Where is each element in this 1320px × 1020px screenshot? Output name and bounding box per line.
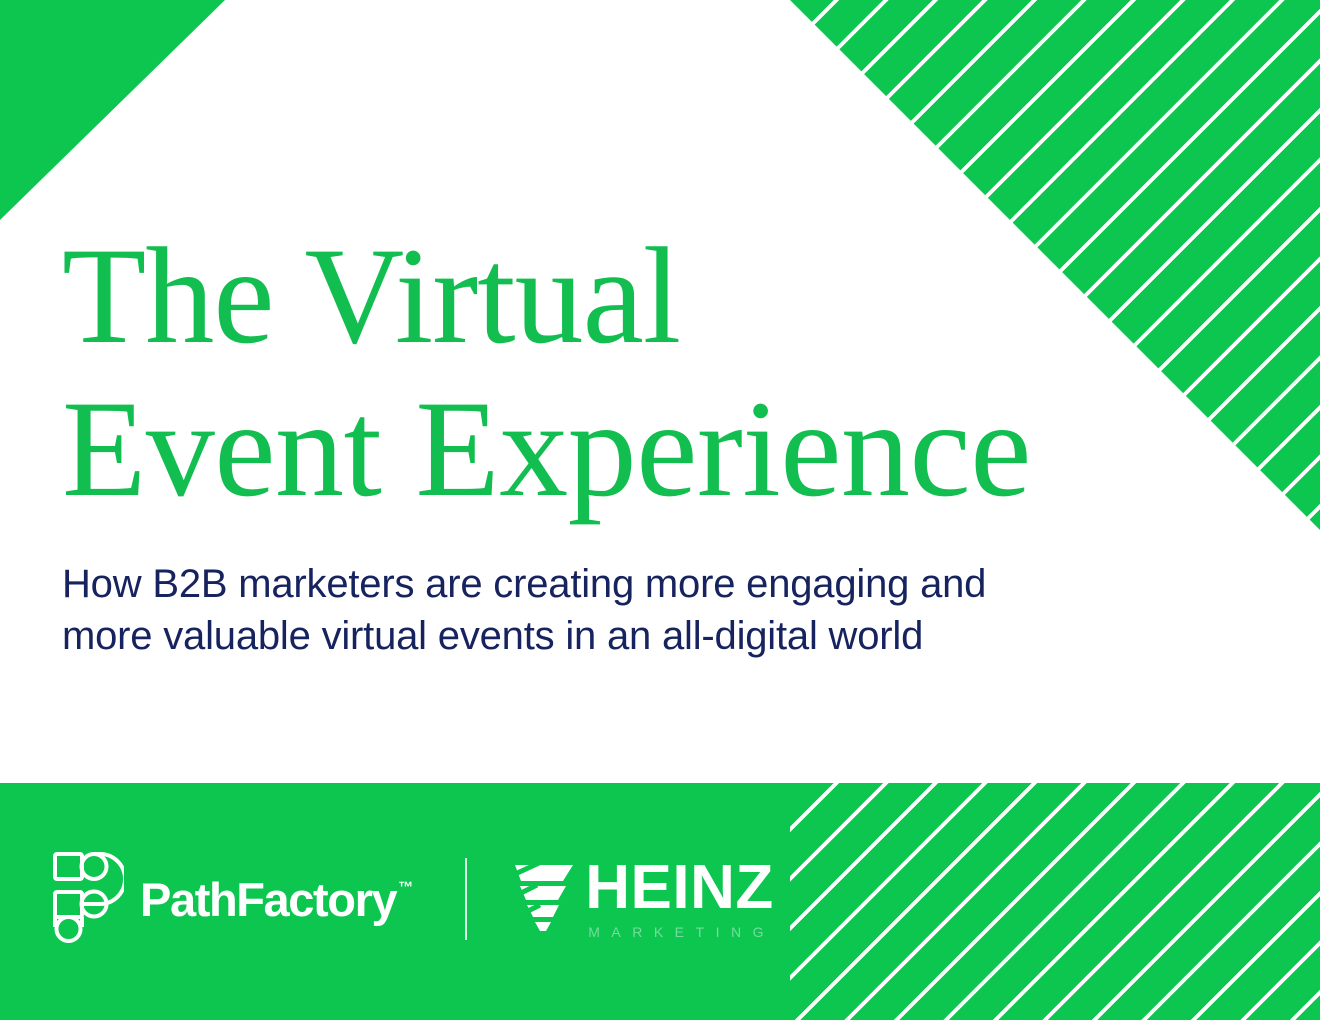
pathfactory-wordmark-text: PathFactory [140,876,396,923]
footer-logo-lockups: PathFactory ™ HEINZ [50,843,775,955]
heinz-wordmark-text: HEINZ [585,859,775,916]
pathfactory-trademark-symbol: ™ [398,880,413,895]
pathfactory-p-mark-icon [50,847,124,952]
heinz-wordmark: HEINZ MARKETING [585,859,775,939]
logo-divider [465,858,467,940]
heinz-sub-wordmark-text: MARKETING [588,925,775,939]
page-title-line-1: The Virtual [62,228,1122,363]
pathfactory-logo[interactable]: PathFactory ™ [50,847,413,952]
corner-triangle-top-left-decor [0,0,225,220]
page-title-line-2: Event Experience [62,381,1122,516]
heinz-marketing-logo[interactable]: HEINZ MARKETING [513,859,775,939]
heinz-funnel-icon [513,861,575,938]
footer-band-stripes-decor [790,783,1320,1020]
cover-page: The Virtual Event Experience How B2B mar… [0,0,1320,1020]
headline-block: The Virtual Event Experience How B2B mar… [62,228,1122,662]
pathfactory-wordmark: PathFactory ™ [140,876,413,923]
page-subtitle: How B2B marketers are creating more enga… [62,516,1072,662]
